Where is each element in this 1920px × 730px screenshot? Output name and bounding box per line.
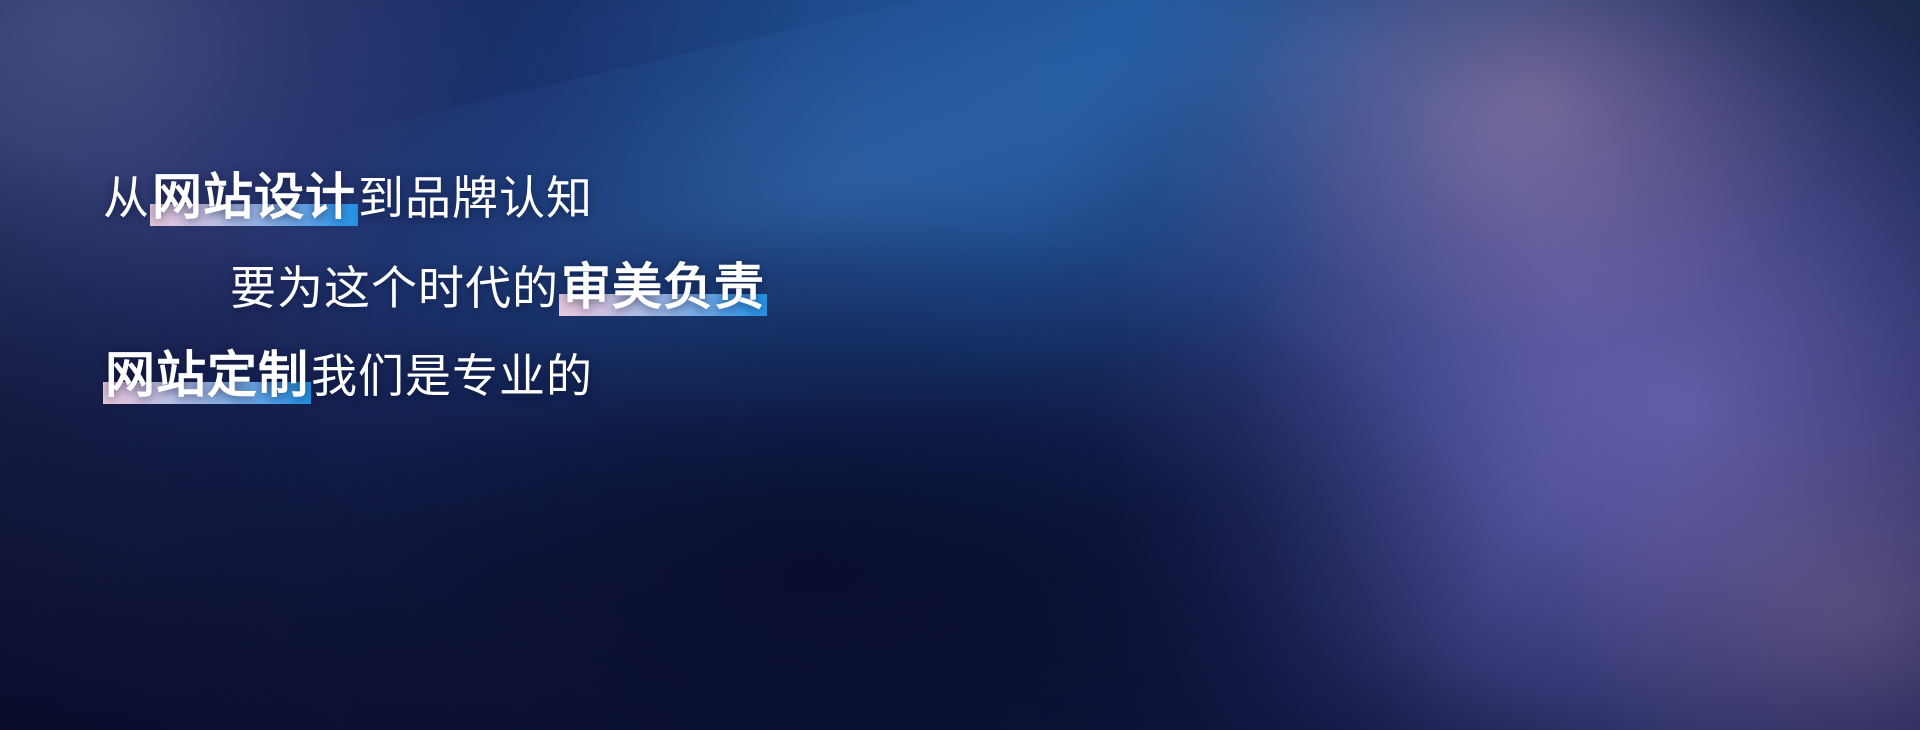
line-1-highlight-website-design: 网站设计: [150, 172, 358, 222]
line-1-prefix-text: 从: [103, 172, 150, 224]
headline-line-2: 要为这个时代的审美负责: [230, 262, 767, 312]
line-2-prefix-text: 要为这个时代的: [230, 262, 559, 314]
headline-copy: 从网站设计到品牌认知 要为这个时代的审美负责 网站定制我们是专业的: [0, 0, 1920, 730]
headline-line-1: 从网站设计到品牌认知: [103, 172, 593, 222]
line-2-highlight-label: 审美负责: [561, 259, 765, 315]
line-3-suffix-text: 我们是专业的: [311, 350, 593, 402]
line-1-highlight-label: 网站设计: [152, 169, 356, 225]
line-2-highlight-aesthetic-responsibility: 审美负责: [559, 262, 767, 312]
headline-line-3: 网站定制我们是专业的: [103, 350, 593, 400]
line-1-suffix-text: 到品牌认知: [358, 172, 593, 224]
line-3-highlight-label: 网站定制: [105, 347, 309, 403]
hero-banner: 从网站设计到品牌认知 要为这个时代的审美负责 网站定制我们是专业的: [0, 0, 1920, 730]
line-3-highlight-website-customization: 网站定制: [103, 350, 311, 400]
